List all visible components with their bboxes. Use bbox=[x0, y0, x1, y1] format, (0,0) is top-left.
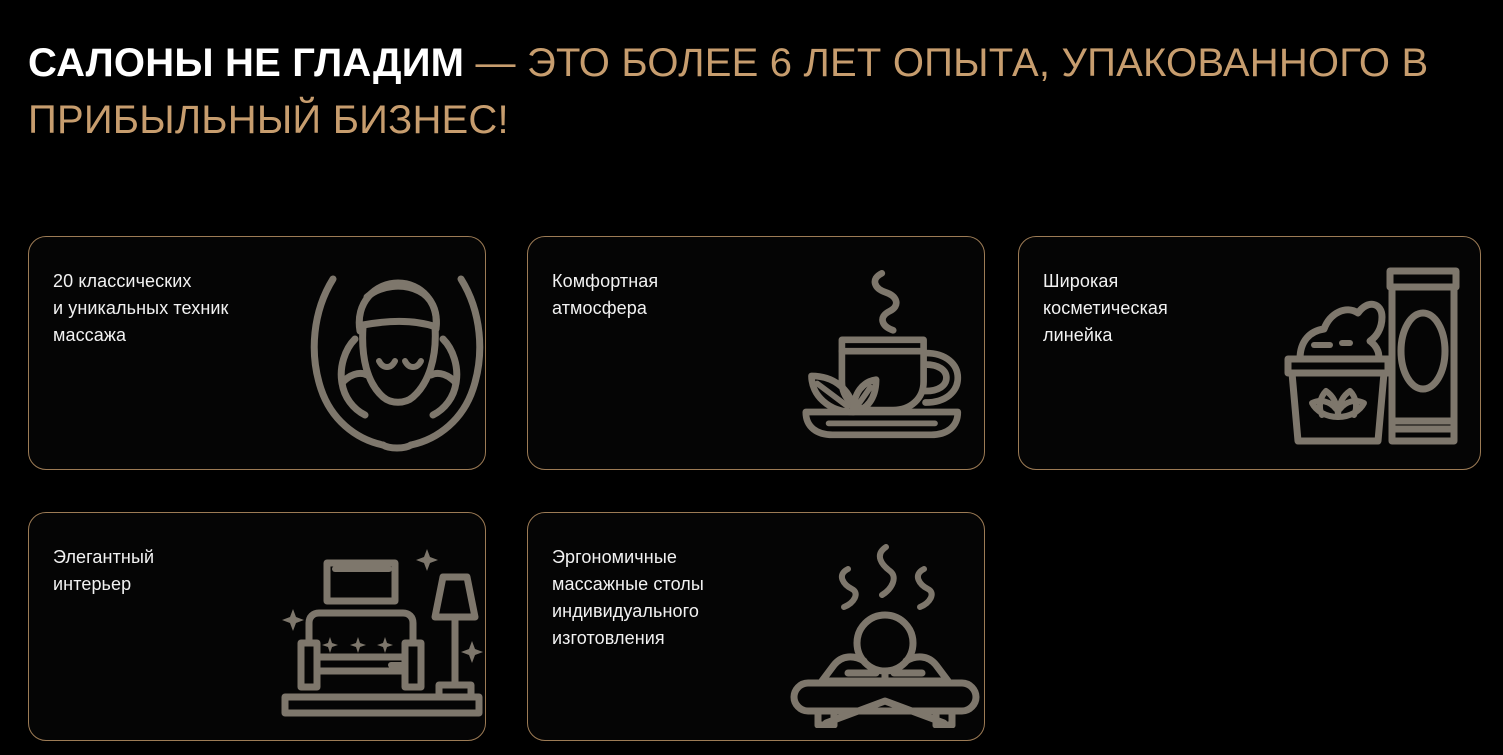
card-title: 20 классических и уникальных техник масс… bbox=[53, 268, 229, 349]
feature-card-grid: 20 классических и уникальных техник масс… bbox=[28, 236, 1481, 741]
tea-cup-icon bbox=[783, 255, 973, 455]
face-massage-icon bbox=[297, 257, 486, 457]
massage-table-icon bbox=[788, 533, 983, 728]
interior-sofa-lamp-icon bbox=[279, 545, 484, 720]
feature-card-massage-techniques[interactable]: 20 классических и уникальных техник масс… bbox=[28, 236, 486, 470]
card-title: Элегантный интерьер bbox=[53, 544, 154, 598]
feature-card-ergonomic-tables[interactable]: Эргономичные массажные столы индивидуаль… bbox=[527, 512, 985, 741]
card-title: Комфортная атмосфера bbox=[552, 268, 658, 322]
card-title: Широкая косметическая линейка bbox=[1043, 268, 1168, 349]
card-title: Эргономичные массажные столы индивидуаль… bbox=[552, 544, 704, 652]
feature-card-comfortable-atmosphere[interactable]: Комфортная атмосфера bbox=[527, 236, 985, 470]
page-title: САЛОНЫ НЕ ГЛАДИМ — ЭТО БОЛЕЕ 6 ЛЕТ ОПЫТА… bbox=[28, 35, 1448, 149]
cosmetics-icon bbox=[1274, 255, 1474, 455]
feature-card-elegant-interior[interactable]: Элегантный интерьер bbox=[28, 512, 486, 741]
page-title-strong: САЛОНЫ НЕ ГЛАДИМ bbox=[28, 41, 464, 85]
feature-card-cosmetics-line[interactable]: Широкая косметическая линейка bbox=[1018, 236, 1481, 470]
